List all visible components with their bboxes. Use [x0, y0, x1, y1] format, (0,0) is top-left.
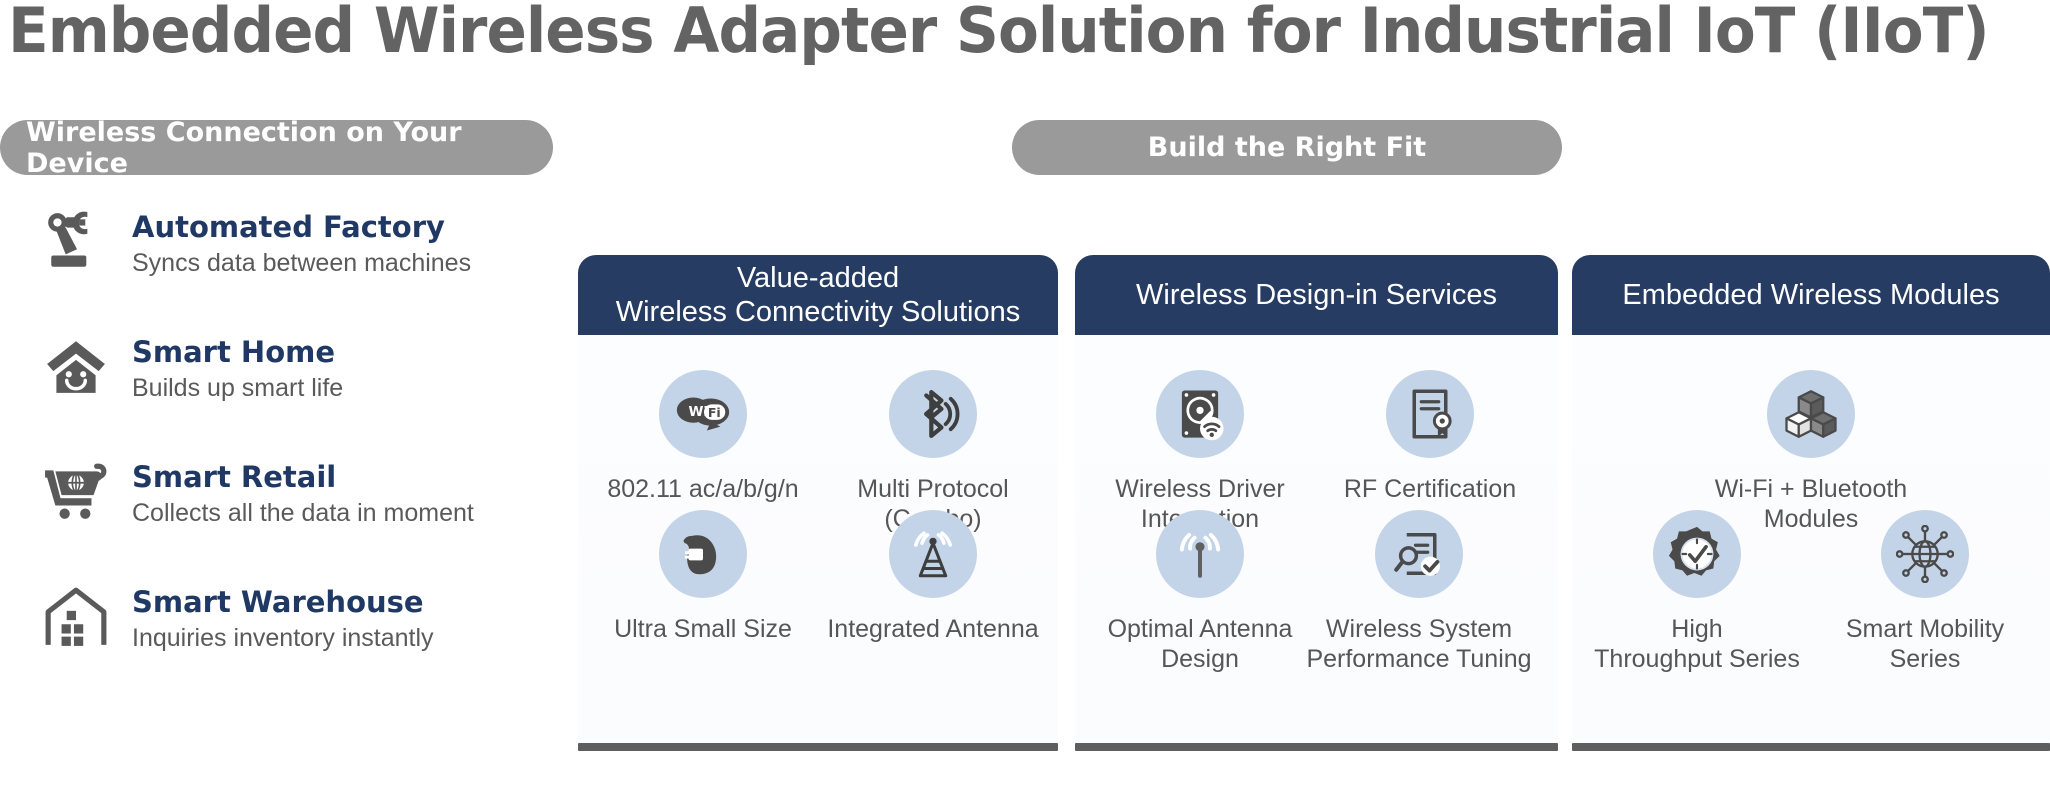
- use-case-title: Automated Factory: [132, 211, 471, 244]
- use-case-subtitle: Syncs data between machines: [132, 248, 471, 278]
- antenna-tower-icon: [889, 510, 977, 598]
- feature-tile: Wireless System Performance Tuning: [1309, 510, 1529, 674]
- smart-home-icon: [40, 330, 112, 402]
- cubes-icon: [1767, 370, 1855, 458]
- globe-network-icon: [1881, 510, 1969, 598]
- card-heading: Value-added Wireless Connectivity Soluti…: [578, 255, 1058, 335]
- hand-holding-module-icon: [659, 510, 747, 598]
- feature-label: Optimal Antenna Design: [1108, 614, 1293, 674]
- warehouse-icon: [40, 580, 112, 652]
- pill-wireless-connection: Wireless Connection on Your Device: [0, 120, 553, 175]
- use-case-smart-warehouse: Smart Warehouse Inquiries inventory inst…: [40, 580, 434, 653]
- card-value-added-solutions: Value-added Wireless Connectivity Soluti…: [578, 255, 1058, 751]
- use-case-smart-home: Smart Home Builds up smart life: [40, 330, 343, 403]
- bluetooth-icon: [889, 370, 977, 458]
- card-design-in-services: Wireless Design-in Services: [1075, 255, 1558, 751]
- card-heading: Embedded Wireless Modules: [1572, 255, 2050, 335]
- robot-arm-icon: [40, 205, 112, 277]
- feature-tile: Wi Fi 802.11 ac/a/b/g/n: [593, 370, 813, 504]
- feature-tile: High Throughput Series: [1587, 510, 1807, 674]
- feature-label: 802.11 ac/a/b/g/n: [607, 474, 798, 504]
- svg-text:Fi: Fi: [708, 405, 721, 420]
- card-heading: Wireless Design-in Services: [1075, 255, 1558, 335]
- pill-left-label: Wireless Connection on Your Device: [26, 117, 553, 179]
- feature-tile: Ultra Small Size: [593, 510, 813, 644]
- card-embedded-modules: Embedded Wireless Modules: [1572, 255, 2050, 751]
- feature-label: Integrated Antenna: [827, 614, 1038, 644]
- use-case-smart-retail: Smart Retail Collects all the data in mo…: [40, 455, 474, 528]
- gear-clock-check-icon: [1653, 510, 1741, 598]
- use-case-subtitle: Collects all the data in moment: [132, 498, 474, 528]
- card-bottom-rule: [1572, 743, 2050, 751]
- use-case-title: Smart Home: [132, 336, 343, 369]
- pill-build-right-fit: Build the Right Fit: [1012, 120, 1562, 175]
- feature-tile: Smart Mobility Series: [1815, 510, 2035, 674]
- use-case-subtitle: Inquiries inventory instantly: [132, 623, 434, 653]
- use-case-subtitle: Builds up smart life: [132, 373, 343, 403]
- feature-label: RF Certification: [1344, 474, 1516, 504]
- infographic-page: Embedded Wireless Adapter Solution for I…: [0, 0, 2050, 799]
- card-bottom-rule: [1075, 743, 1558, 751]
- wifi-logo-icon: Wi Fi: [659, 370, 747, 458]
- use-case-automated-factory: Automated Factory Syncs data between mac…: [40, 205, 471, 278]
- shopping-cart-globe-icon: [40, 455, 112, 527]
- use-case-title: Smart Warehouse: [132, 586, 434, 619]
- feature-tile: Optimal Antenna Design: [1090, 510, 1310, 674]
- hard-drive-wifi-icon: [1156, 370, 1244, 458]
- card-bottom-rule: [578, 743, 1058, 751]
- page-title: Embedded Wireless Adapter Solution for I…: [8, 0, 1989, 67]
- document-magnifier-check-icon: [1375, 510, 1463, 598]
- antenna-signal-icon: [1156, 510, 1244, 598]
- feature-label: Ultra Small Size: [614, 614, 792, 644]
- feature-label: Wireless System Performance Tuning: [1289, 614, 1549, 674]
- feature-tile: RF Certification: [1320, 370, 1540, 504]
- feature-label: High Throughput Series: [1594, 614, 1800, 674]
- feature-tile: Integrated Antenna: [823, 510, 1043, 644]
- pill-right-label: Build the Right Fit: [1148, 132, 1426, 163]
- feature-label: Smart Mobility Series: [1846, 614, 2004, 674]
- certificate-seal-icon: [1386, 370, 1474, 458]
- use-case-title: Smart Retail: [132, 461, 474, 494]
